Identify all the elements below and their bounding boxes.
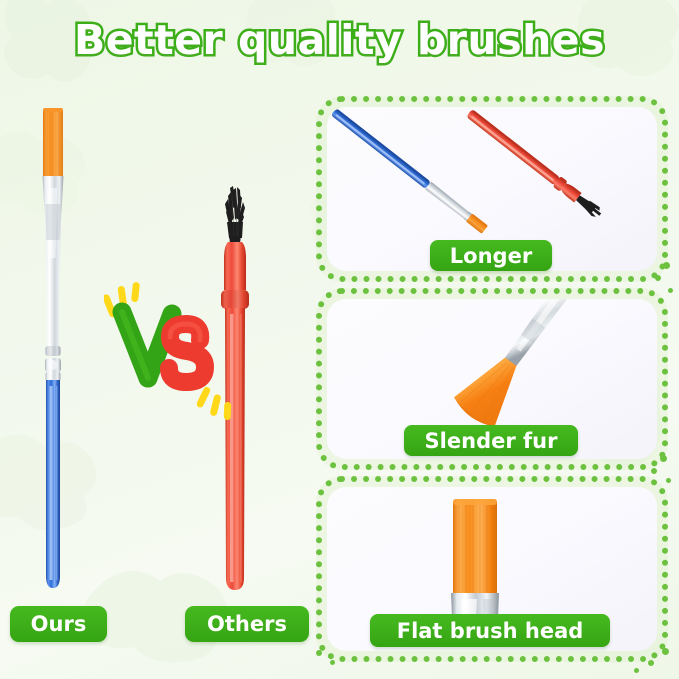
- spark-lines-bottom: [195, 386, 231, 420]
- page-title: Better quality brushes: [0, 16, 679, 64]
- decor-dot: [634, 668, 639, 673]
- versus-graphic: [104, 282, 234, 422]
- feature-badge-slender-fur: Slender fur: [404, 425, 578, 456]
- decor-dot: [668, 288, 673, 293]
- feature-badge-longer: Longer: [430, 240, 552, 271]
- label-ours: Ours: [10, 606, 107, 642]
- label-others: Others: [185, 606, 309, 642]
- vs-letter-s: [169, 324, 205, 382]
- decor-dot: [651, 468, 657, 474]
- poster-root: Better quality brushes: [0, 0, 679, 679]
- brush-ours-illustration: [36, 108, 70, 592]
- decor-dot: [666, 478, 671, 483]
- feature-badge-flat-brush-head: Flat brush head: [370, 614, 610, 647]
